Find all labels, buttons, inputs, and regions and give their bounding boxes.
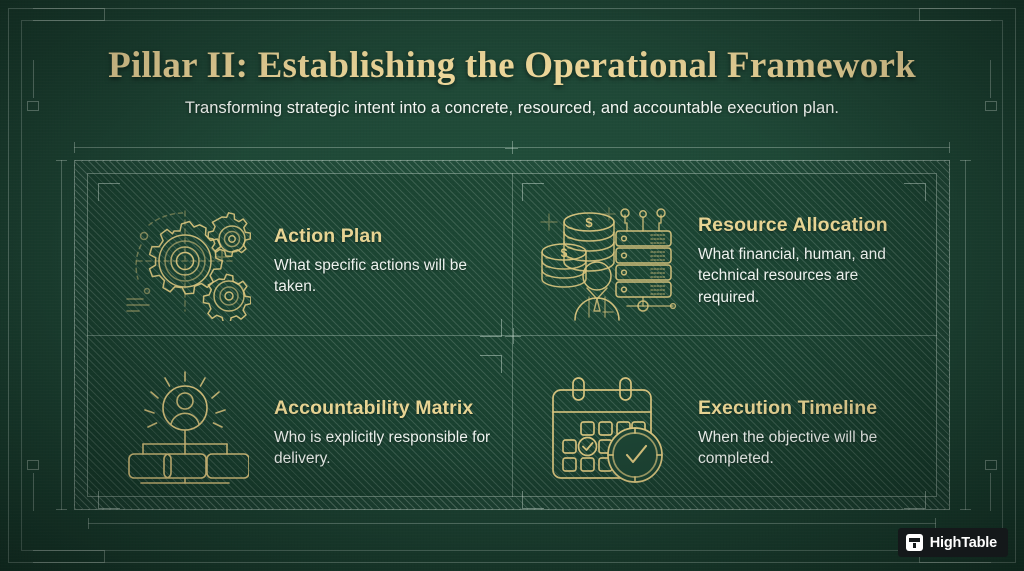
quadrant-text: Execution Timeline When the objective wi…	[698, 395, 916, 469]
dimension-cap-top-left	[74, 142, 75, 153]
dimension-line-left	[61, 160, 62, 510]
gears-icon	[110, 190, 260, 330]
frame-mark-left-bottom	[27, 460, 39, 470]
calendar-clock-icon	[534, 362, 684, 502]
dimension-line-right	[965, 160, 966, 510]
corner-notch-bottom-left	[33, 550, 105, 563]
quadrant-description: What specific actions will be taken.	[274, 255, 492, 297]
registration-mark-top	[505, 141, 518, 154]
quadrant-corner-bl	[98, 491, 120, 509]
logo-text: HighTable	[930, 535, 997, 551]
quadrant-description: When the objective will be completed.	[698, 427, 916, 469]
dimension-cap-right-bottom	[960, 509, 971, 510]
dimension-line-bottom	[88, 523, 936, 524]
quadrant-text: Action Plan What specific actions will b…	[274, 223, 492, 297]
svg-text:$: $	[585, 215, 593, 230]
header: Pillar II: Establishing the Operational …	[0, 44, 1024, 118]
dimension-cap-bottom-left	[88, 518, 89, 529]
corner-notch-top-right	[919, 8, 991, 21]
dimension-cap-left-bottom	[56, 509, 67, 510]
quadrant-action-plan[interactable]: Action Plan What specific actions will b…	[88, 174, 512, 346]
org-chart-person-icon	[110, 362, 260, 502]
quadrant-execution-timeline[interactable]: Execution Timeline When the objective wi…	[512, 346, 936, 518]
quadrant-accountability-matrix[interactable]: Accountability Matrix Who is explicitly …	[88, 346, 512, 518]
edge-tick-right-lower	[990, 473, 991, 511]
quadrant-description: Who is explicitly responsible for delive…	[274, 427, 492, 469]
quadrant-title: Action Plan	[274, 225, 492, 248]
quadrant-title: Resource Allocation	[698, 214, 916, 237]
dimension-cap-right-top	[960, 160, 971, 161]
quadrant-text: Accountability Matrix Who is explicitly …	[274, 395, 492, 469]
quadrant-corner-br	[904, 491, 926, 509]
frame-mark-right-bottom	[985, 460, 997, 470]
svg-text:$: $	[561, 246, 568, 260]
table-grid-icon	[906, 534, 923, 551]
quadrant-corner-bl	[522, 491, 544, 509]
panel-center-registration-mark	[505, 328, 521, 344]
quadrant-corner-tr	[904, 183, 926, 201]
quadrant-resource-allocation[interactable]: $ $	[512, 174, 936, 346]
framework-panel: Action Plan What specific actions will b…	[74, 160, 950, 510]
hightable-logo[interactable]: HighTable	[898, 528, 1008, 557]
dimension-cap-top-right	[949, 142, 950, 153]
quadrant-corner-tl	[98, 183, 120, 201]
quadrant-corner-tr	[480, 355, 502, 373]
corner-notch-top-left	[33, 8, 105, 21]
quadrant-title: Accountability Matrix	[274, 397, 492, 420]
edge-tick-left-lower	[33, 473, 34, 511]
quadrant-corner-tl	[522, 183, 544, 201]
quadrant-title: Execution Timeline	[698, 397, 916, 420]
page-title: Pillar II: Establishing the Operational …	[0, 44, 1024, 87]
slide-root: Pillar II: Establishing the Operational …	[0, 0, 1024, 571]
quadrant-text: Resource Allocation What financial, huma…	[698, 212, 916, 307]
dimension-cap-left-top	[56, 160, 67, 161]
quadrant-description: What financial, human, and technical res…	[698, 244, 916, 307]
coins-person-server-icon: $ $	[534, 190, 684, 330]
page-subtitle: Transforming strategic intent into a con…	[0, 99, 1024, 118]
